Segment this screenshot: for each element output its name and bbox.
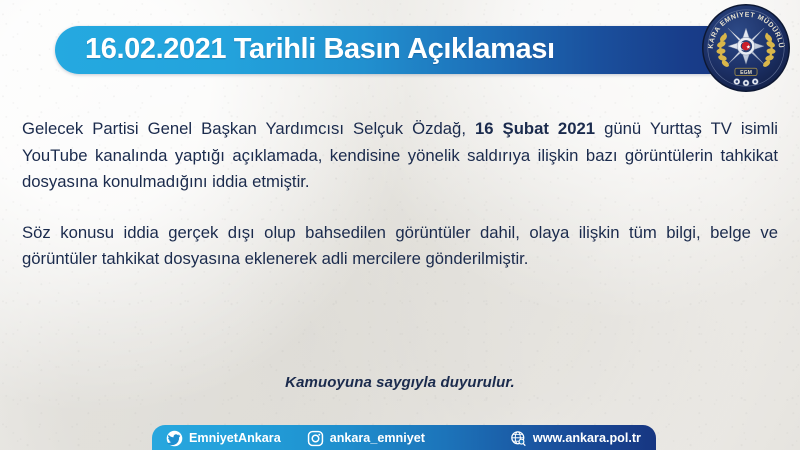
footer-item-instagram-label: ankara_emniyet [330, 431, 425, 445]
footer-item-website[interactable]: www.ankara.pol.tr [510, 428, 641, 448]
press-release-page: 16.02.2021 Tarihli Basın Açıklaması [0, 0, 800, 450]
paragraph-2: Söz konusu iddia gerçek dışı olup bahsed… [22, 220, 778, 273]
globe-icon [510, 430, 527, 447]
paragraph-1: Gelecek Partisi Genel Başkan Yardımcısı … [22, 116, 778, 196]
instagram-icon [307, 430, 324, 447]
footer-item-instagram[interactable]: ankara_emniyet [307, 428, 425, 448]
header: 16.02.2021 Tarihli Basın Açıklaması [0, 0, 800, 98]
title-banner: 16.02.2021 Tarihli Basın Açıklaması [55, 26, 755, 74]
page-title: 16.02.2021 Tarihli Basın Açıklaması [85, 33, 555, 66]
closing-line: Kamuoyuna saygıyla duyurulur. [22, 374, 778, 391]
paragraph-1-part1: Gelecek Partisi Genel Başkan Yardımcısı … [22, 119, 475, 138]
footer-item-twitter-label: EmniyetAnkara [189, 431, 281, 445]
footer-item-twitter[interactable]: EmniyetAnkara [166, 428, 281, 448]
body-content: Gelecek Partisi Genel Başkan Yardımcısı … [22, 116, 778, 273]
footer-bar: EmniyetAnkara ankara_emniyet [152, 425, 656, 450]
footer-item-website-label: www.ankara.pol.tr [533, 431, 641, 445]
svg-text:EGM: EGM [740, 70, 752, 76]
twitter-icon [166, 430, 183, 447]
paragraph-1-bold-date: 16 Şubat 2021 [475, 119, 595, 138]
ankara-police-emblem-icon: ANKARA EMNİYET MÜDÜRLÜĞÜ [700, 2, 792, 94]
